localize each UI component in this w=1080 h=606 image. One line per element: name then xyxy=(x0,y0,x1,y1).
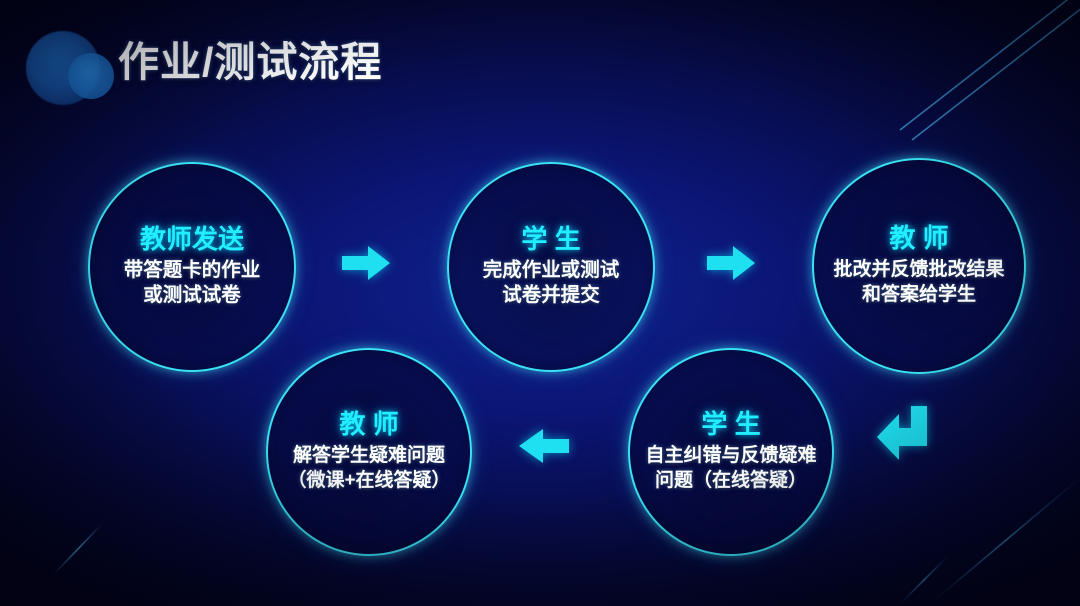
flow-node-title: 学 生 xyxy=(701,410,760,440)
flow-node-student-correct[interactable]: 学 生 自主纠错与反馈疑难 问题（在线答疑） xyxy=(628,348,834,556)
flow-node-line-1: 完成作业或测试 xyxy=(483,258,620,284)
flow-node-line-1: 批改并反馈批改结果 xyxy=(833,257,1004,282)
flow-node-student-submit[interactable]: 学 生 完成作业或测试 试卷并提交 xyxy=(447,162,655,372)
arrow-left-icon xyxy=(517,425,571,467)
flow-node-line-2: 和答案给学生 xyxy=(862,282,976,307)
header-orb-decoration xyxy=(26,31,110,115)
flow-node-teacher-grade[interactable]: 教 师 批改并反馈批改结果 和答案给学生 xyxy=(812,158,1026,374)
flow-node-title: 教师发送 xyxy=(140,225,244,255)
streak-bottom-left xyxy=(52,524,102,576)
arrow-right-icon xyxy=(705,243,757,283)
streak-bottom-right xyxy=(900,478,1080,604)
flow-node-line-1: 带答题卡的作业 xyxy=(124,258,261,284)
arrow-right-icon xyxy=(340,243,392,283)
flow-node-title: 教 师 xyxy=(889,224,948,254)
flow-node-line-2: 或测试试卷 xyxy=(143,283,241,309)
flow-node-line-2: 问题（在线答疑） xyxy=(655,468,807,493)
page-title: 作业/测试流程 xyxy=(118,40,382,86)
flow-node-line-2: 试卷并提交 xyxy=(502,283,600,309)
flow-node-teacher-send[interactable]: 教师发送 带答题卡的作业 或测试试卷 xyxy=(88,162,296,372)
arrow-elbow-down-left-icon xyxy=(875,404,931,466)
flow-node-line-1: 自主纠错与反馈疑难 xyxy=(645,443,816,468)
flow-node-line-1: 解答学生疑难问题 xyxy=(293,443,445,468)
flow-node-title: 学 生 xyxy=(521,225,580,255)
flow-node-line-2: （微课+在线答疑） xyxy=(287,468,450,493)
slide-header: 作业/测试流程 xyxy=(0,0,1080,150)
flow-node-teacher-answer[interactable]: 教 师 解答学生疑难问题 （微课+在线答疑） xyxy=(266,348,472,556)
flow-node-title: 教 师 xyxy=(339,410,398,440)
circle-small-icon xyxy=(68,53,114,99)
slide-canvas: 作业/测试流程 教师发送 带答题卡的作业 或测试试卷 学 生 完成作业或测试 试… xyxy=(0,0,1080,606)
